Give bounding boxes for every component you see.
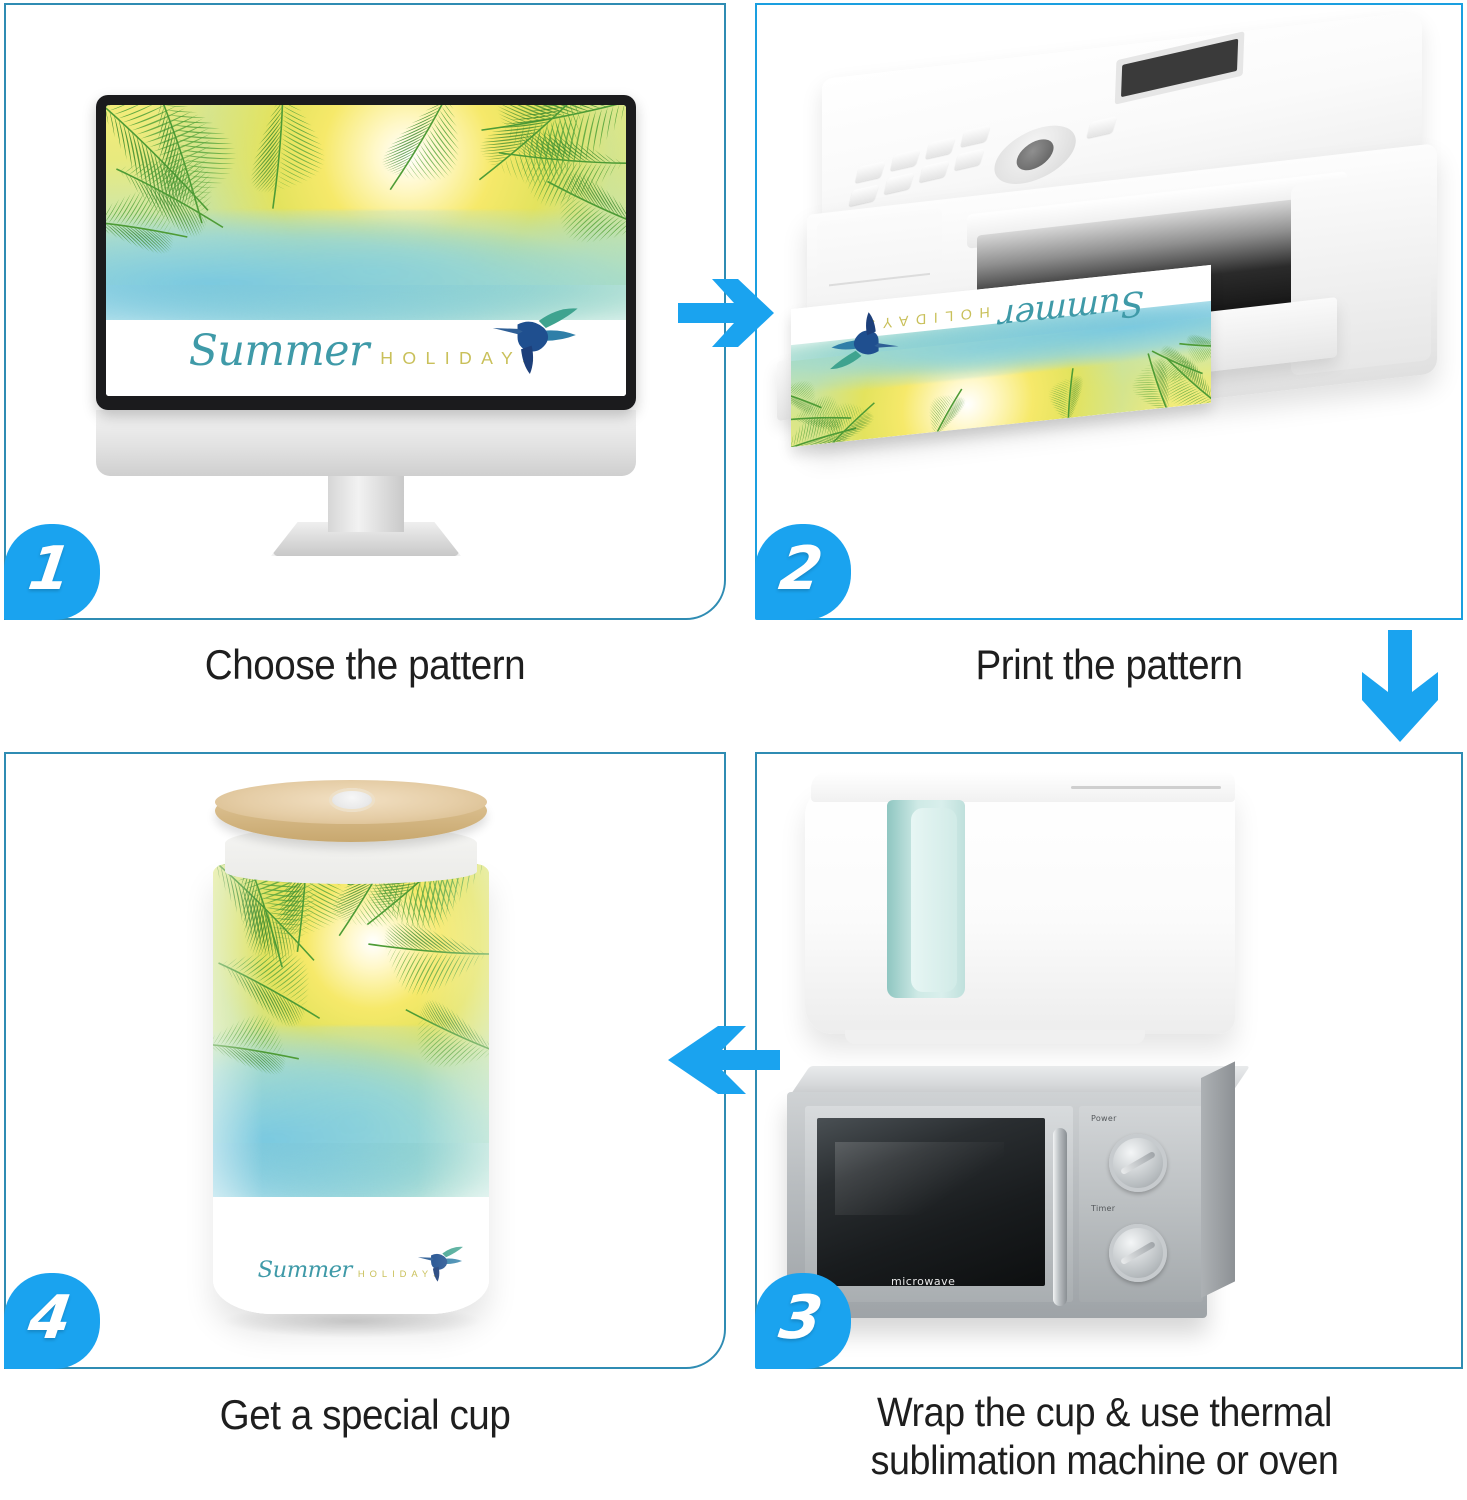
press-housing [805, 784, 1235, 1034]
step-badge-1: 1 [4, 524, 100, 620]
step-caption-3-line2: sublimation machine or oven [771, 1436, 1438, 1484]
microwave-door-handle[interactable] [1053, 1128, 1067, 1306]
step-caption-3-line1: Wrap the cup & use thermal [771, 1388, 1438, 1436]
how-to-infographic: SummerHOLIDAYS 1 Choose the pattern [0, 0, 1467, 1500]
printer-button [919, 160, 949, 182]
microwave-power-knob[interactable] [1109, 1134, 1167, 1192]
step-number-4: 4 [25, 1288, 75, 1348]
microwave-control-panel: Power Timer [1079, 1106, 1203, 1302]
step-badge-4: 4 [4, 1273, 100, 1369]
artwork-script-word: Summer [189, 326, 369, 376]
monitor-chin [96, 410, 636, 476]
microwave-door-window [817, 1118, 1045, 1286]
glass-tumbler-with-bamboo-lid: SummerHOLIDAYS [191, 784, 511, 1344]
step-panel-1: SummerHOLIDAYS 1 [4, 3, 726, 620]
summer-holidays-artwork: SummerHOLIDAYS [213, 864, 489, 1314]
press-lid [811, 772, 1235, 802]
mug-sublimation-press [805, 784, 1235, 1034]
printer-button [890, 149, 920, 171]
step-panel-2: SummerHOLIDAYS 2 [755, 3, 1463, 620]
arrow-right-icon [676, 263, 776, 363]
cup-body: SummerHOLIDAYS [213, 864, 489, 1314]
step-badge-3: 3 [755, 1273, 851, 1369]
step-number-1: 1 [25, 539, 75, 599]
microwave-front-face: microwave Power Timer [787, 1092, 1207, 1318]
step-number-3: 3 [776, 1288, 826, 1348]
inkjet-printer: SummerHOLIDAYS [767, 29, 1457, 529]
microwave-power-label: Power [1091, 1114, 1117, 1123]
monitor-bezel: SummerHOLIDAYS [96, 95, 636, 410]
printer-button [925, 137, 955, 159]
step-caption-4: Get a special cup [33, 1390, 697, 1440]
microwave-side-face [1201, 1061, 1235, 1298]
printer-button [954, 148, 984, 170]
step-panel-3: microwave Power Timer 3 [755, 752, 1463, 1369]
step-number-2: 2 [776, 539, 826, 599]
printer-button [855, 161, 885, 183]
printer-button [849, 184, 879, 206]
microwave-brand-label: microwave [891, 1275, 955, 1288]
step-badge-2: 2 [755, 524, 851, 620]
press-heating-slot [887, 800, 965, 998]
monitor-screen: SummerHOLIDAYS [106, 105, 626, 396]
printer-button [1087, 116, 1117, 138]
microwave-timer-knob[interactable] [1109, 1224, 1167, 1282]
arrow-left-icon [666, 1010, 782, 1110]
artwork-script-word: Summer [258, 1257, 352, 1283]
lid-straw-hole [329, 788, 375, 812]
printer-button [884, 172, 914, 194]
microwave-timer-label: Timer [1091, 1204, 1115, 1213]
artwork-hummingbird-icon [417, 1245, 464, 1283]
monitor-stand-neck [328, 472, 404, 532]
printer-navigation-dial [988, 118, 1083, 192]
step-caption-1: Choose the pattern [33, 640, 697, 690]
printer-button [960, 125, 990, 147]
press-base [845, 1030, 1145, 1044]
step-panel-4: SummerHOLIDAYS 4 [4, 752, 726, 1369]
desktop-monitor: SummerHOLIDAYS [66, 80, 666, 540]
printer-display [1115, 31, 1245, 105]
artwork-hummingbird-icon [491, 305, 579, 376]
arrow-down-icon [1350, 628, 1450, 746]
summer-holidays-artwork: SummerHOLIDAYS [106, 105, 626, 396]
step-caption-3: Wrap the cup & use thermal sublimation m… [771, 1388, 1438, 1485]
microwave-door: microwave [805, 1106, 1073, 1302]
artwork-hummingbird-icon [829, 307, 900, 372]
step-caption-2: Print the pattern [783, 640, 1434, 690]
